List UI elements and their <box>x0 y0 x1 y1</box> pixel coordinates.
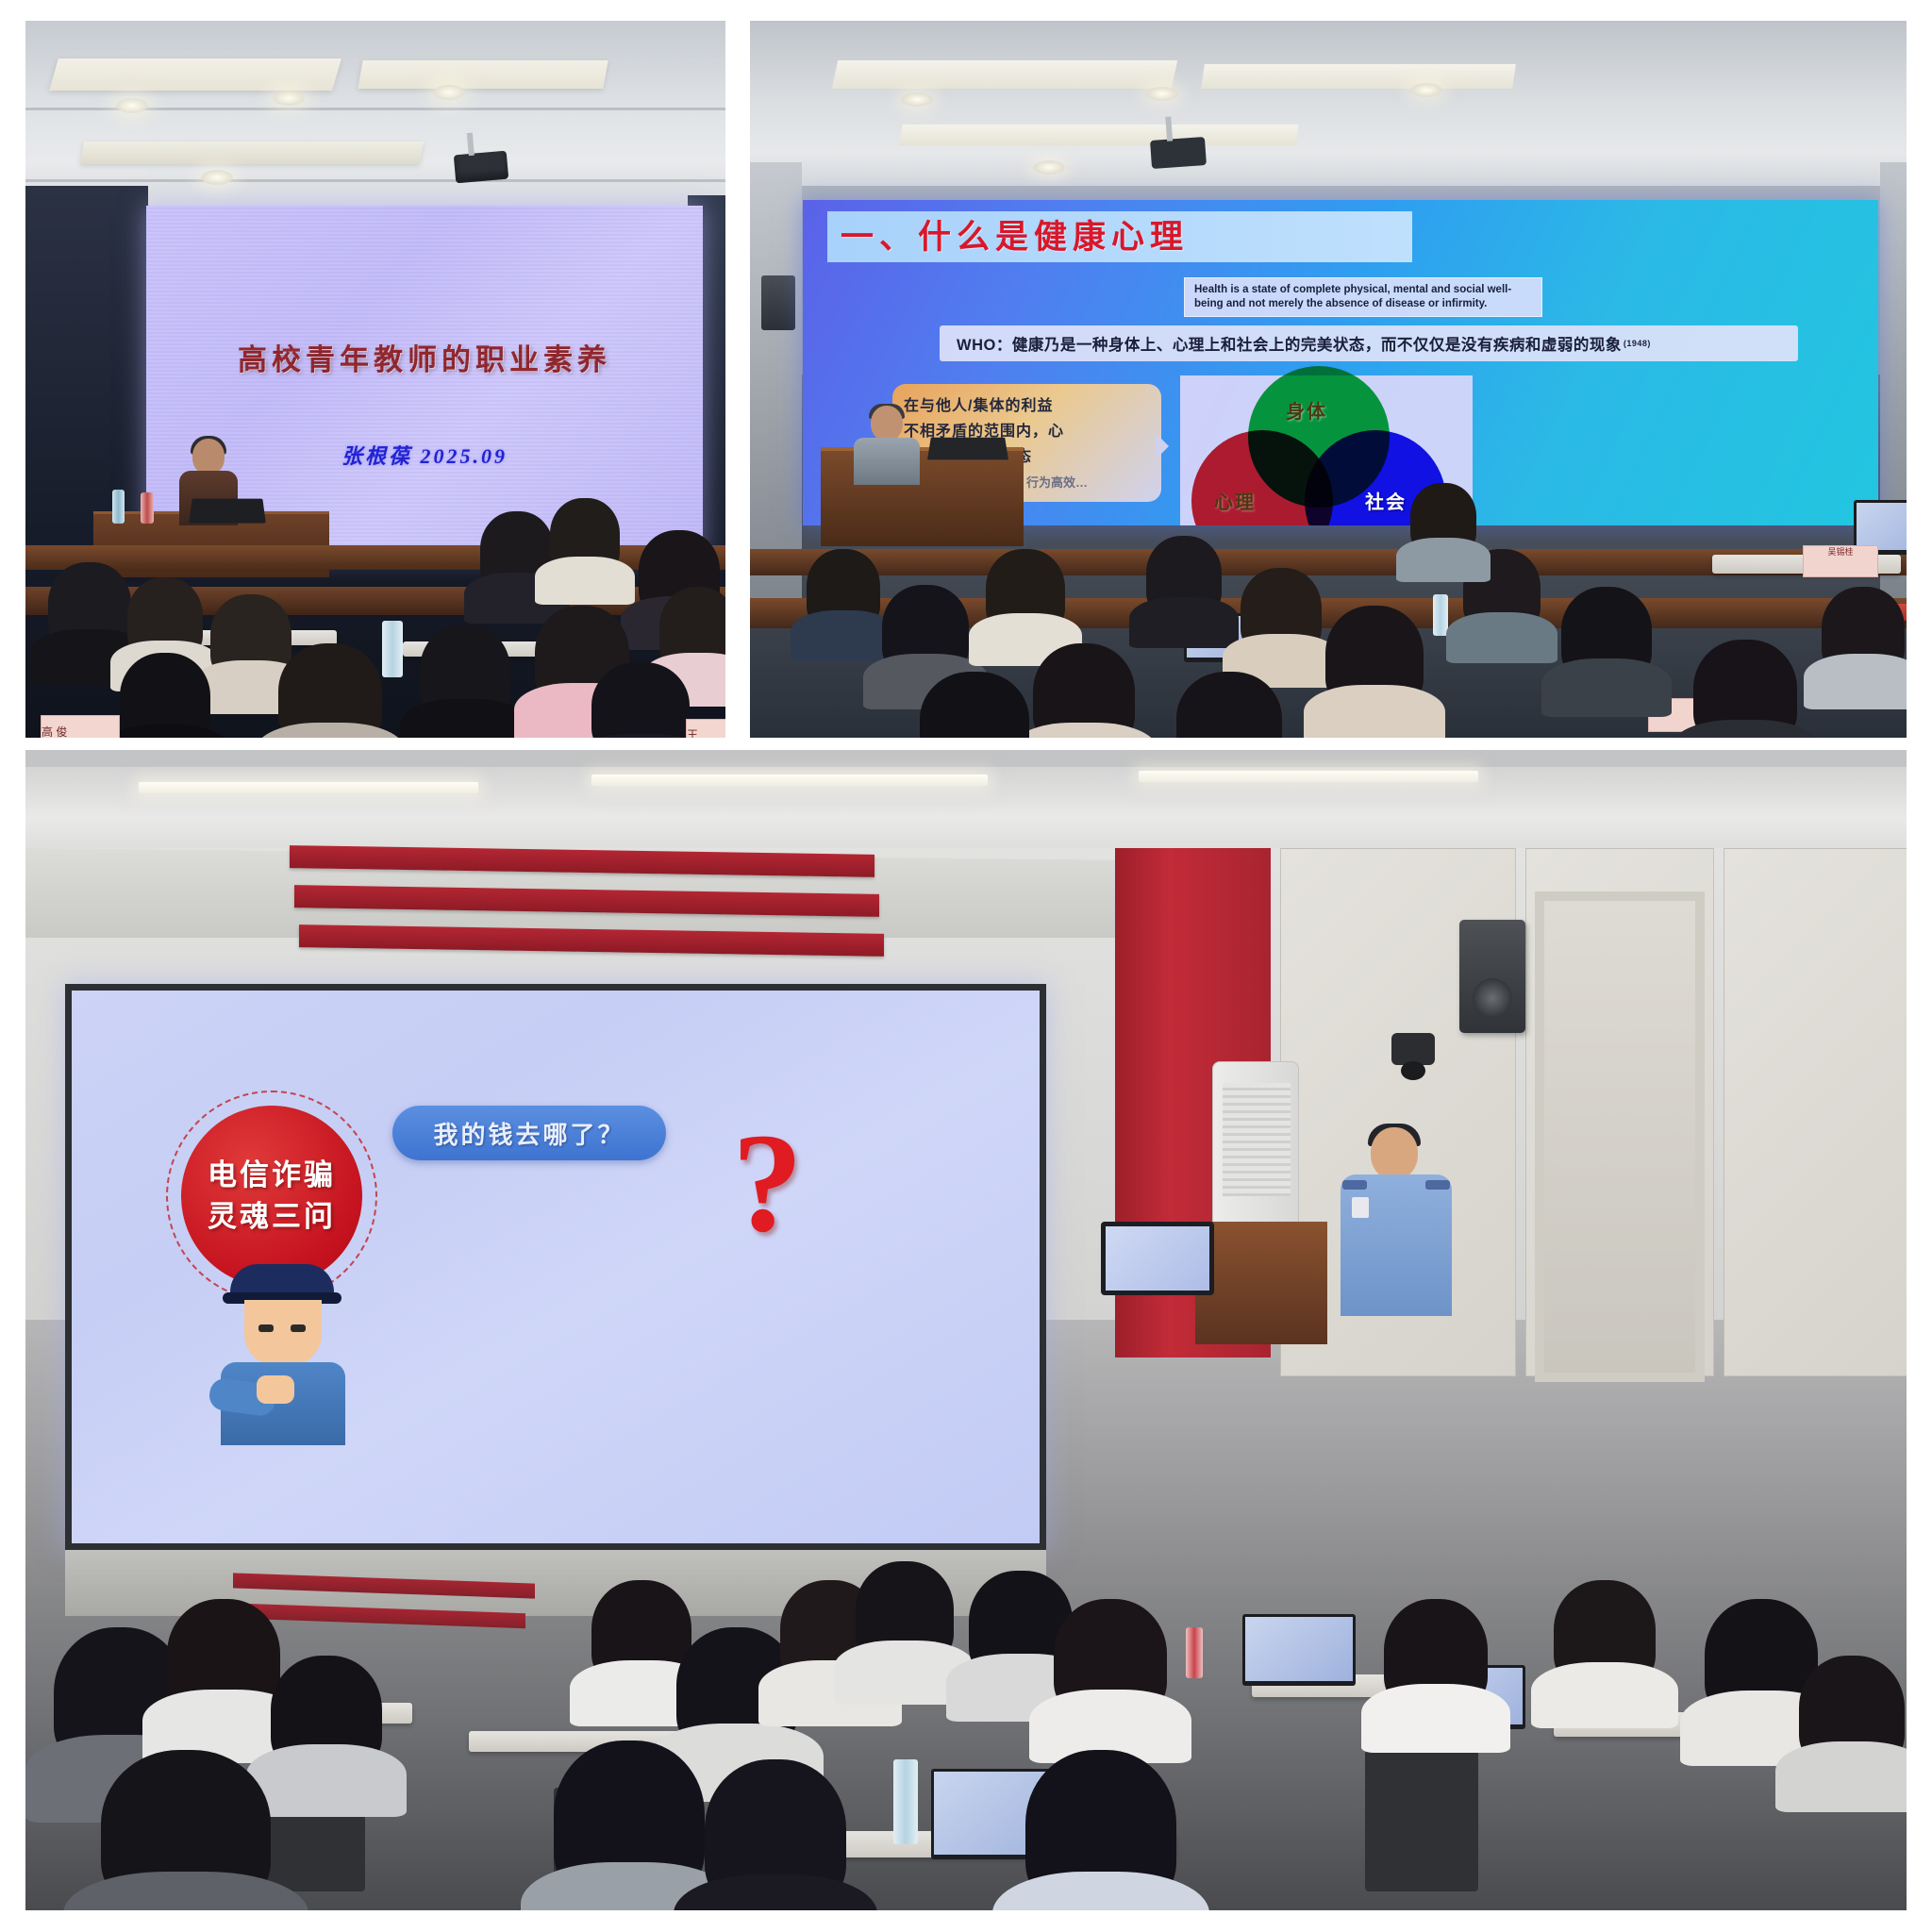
cartoon-eye-left <box>258 1324 274 1332</box>
audience-person <box>882 585 969 675</box>
venn-label-social: 社会 <box>1365 487 1407 514</box>
downlight-icon <box>1033 160 1065 175</box>
downlight-icon <box>201 170 233 185</box>
podium <box>821 447 1024 546</box>
question-mark-icon: ? <box>732 1102 803 1264</box>
name-placard: 吴锡桂 <box>1803 545 1878 577</box>
police-officer-cartoon <box>213 1264 355 1443</box>
water-bottle <box>382 621 403 677</box>
cartoon-eye-right <box>291 1324 306 1332</box>
ceiling <box>750 21 1907 209</box>
photo-collage: 高校青年教师的职业素养 张根葆 2025.09 高 俊 王 <box>0 0 1932 1932</box>
badge-line-1: 电信诈骗 <box>208 1155 336 1196</box>
ceiling-light <box>1139 771 1478 782</box>
ceiling-light-panel <box>358 60 608 89</box>
ceiling-light-panel <box>1201 64 1516 89</box>
ceiling-light-panel <box>899 125 1298 145</box>
slide-who-definition: WHO：健康乃是一种身体上、心理上和社会上的完美状态，而不仅仅是没有疾病和虚弱的… <box>940 325 1798 361</box>
audience-person <box>1561 587 1652 681</box>
ceiling-light-panel <box>80 142 424 164</box>
audience-person <box>550 498 620 575</box>
bubble-line-1: 在与他人/集体的利益 <box>904 393 1150 419</box>
cartoon-face <box>244 1300 322 1366</box>
slide-title: 高校青年教师的职业素养 <box>146 336 703 378</box>
downlight-icon <box>273 91 305 106</box>
slide-banner: 我的钱去哪了？ <box>392 1106 666 1160</box>
audience-person <box>554 1740 705 1901</box>
ceiling-light-panel <box>832 60 1177 89</box>
photo-lecture-hall-blue-slide: 一、什么是健康心理 Health is a state of complete … <box>750 21 1907 738</box>
name-placard: 王 <box>686 719 725 738</box>
cartoon-hat <box>230 1264 334 1296</box>
presenter-epaulet <box>1342 1180 1367 1190</box>
downlight-icon <box>433 85 465 100</box>
audience-person <box>1054 1599 1167 1718</box>
downlight-icon <box>901 92 933 107</box>
ceiling-light <box>591 774 988 786</box>
photo-lecture-hall-purple-slide: 高校青年教师的职业素养 张根葆 2025.09 高 俊 王 <box>25 21 725 738</box>
audience-person <box>210 594 291 681</box>
water-bottle <box>1186 1627 1203 1678</box>
audience-person <box>101 1750 271 1910</box>
audience-person <box>120 653 210 738</box>
audience-person <box>167 1599 280 1718</box>
audience-person <box>1146 536 1222 617</box>
audience-person <box>591 1580 691 1686</box>
audience-person <box>48 562 131 651</box>
wall-speaker <box>1459 920 1525 1033</box>
audience-person <box>591 662 690 738</box>
ceiling-projector <box>1150 137 1207 169</box>
audience-person <box>1410 483 1476 555</box>
audience-person <box>1799 1656 1905 1769</box>
photo-anti-fraud-lecture-hall: 电信诈骗 灵魂三问 我的钱去哪了？ ? <box>25 750 1907 1910</box>
audience-person <box>1033 643 1135 738</box>
who-year: (1948) <box>1624 339 1651 348</box>
audience-person <box>271 1656 382 1773</box>
podium-laptop <box>927 438 1008 460</box>
presenter-uniform <box>1341 1174 1452 1316</box>
speaker-person <box>854 406 920 481</box>
name-placard: 高 俊 <box>41 715 120 738</box>
projection-screen: 电信诈骗 灵魂三问 我的钱去哪了？ ? <box>65 984 1046 1550</box>
audience-person <box>705 1759 846 1910</box>
downlight-icon <box>1410 83 1442 97</box>
ceiling-projector <box>454 151 508 184</box>
ceiling-seam <box>25 179 725 182</box>
presenter-police-officer <box>1335 1127 1457 1316</box>
audience-person <box>1384 1599 1488 1710</box>
audience-person <box>659 587 725 674</box>
water-bottle <box>893 1759 918 1844</box>
downlight-icon <box>116 98 148 113</box>
slide-english-quote: Health is a state of complete physical, … <box>1184 277 1542 317</box>
audience-person <box>1025 1750 1176 1910</box>
chair <box>1365 1750 1478 1891</box>
cartoon-hand <box>257 1375 294 1404</box>
presenter-badge <box>1352 1197 1369 1218</box>
badge-line-2: 灵魂三问 <box>208 1196 336 1238</box>
venn-label-mind: 心理 <box>1214 487 1256 514</box>
audience-person <box>1325 606 1424 709</box>
slide-title: 一、什么是健康心理 <box>841 215 1425 260</box>
speaker-head <box>871 406 903 441</box>
laptop <box>1242 1614 1356 1686</box>
speaker-head <box>192 439 225 475</box>
audience-person <box>986 549 1065 634</box>
speaker-body <box>854 438 920 485</box>
wall-stone-panel <box>1724 848 1907 1376</box>
lectern <box>1195 1222 1327 1344</box>
podium-laptop <box>189 499 266 524</box>
wall-side-panel-left <box>750 162 802 615</box>
ceiling-light-panel <box>49 58 341 91</box>
audience-person <box>1241 568 1322 655</box>
audience-person <box>127 577 203 660</box>
audience-person <box>1822 587 1905 675</box>
audience-person <box>856 1561 954 1665</box>
audience-person <box>1554 1580 1656 1688</box>
venn-label-body: 身体 <box>1286 396 1327 424</box>
podium-monitor <box>1101 1222 1214 1295</box>
audience-person <box>278 643 382 738</box>
audience-person <box>807 549 880 630</box>
slide-badge: 电信诈骗 灵魂三问 <box>181 1106 362 1287</box>
audience-person <box>420 625 510 723</box>
presenter-head <box>1371 1127 1418 1180</box>
ceiling-band <box>25 750 1907 767</box>
ceiling-camera <box>1391 1033 1435 1065</box>
downlight-icon <box>1146 87 1178 101</box>
door-frame <box>1535 891 1705 1382</box>
who-text: WHO：健康乃是一种身体上、心理上和社会上的完美状态，而不仅仅是没有疾病和虚弱的… <box>957 332 1622 355</box>
wall-speaker <box>761 275 795 330</box>
ceiling-light <box>139 782 478 793</box>
water-bottle <box>112 490 125 524</box>
water-bottle <box>141 492 154 524</box>
presenter-epaulet <box>1425 1180 1450 1190</box>
audience-person <box>1693 640 1797 738</box>
